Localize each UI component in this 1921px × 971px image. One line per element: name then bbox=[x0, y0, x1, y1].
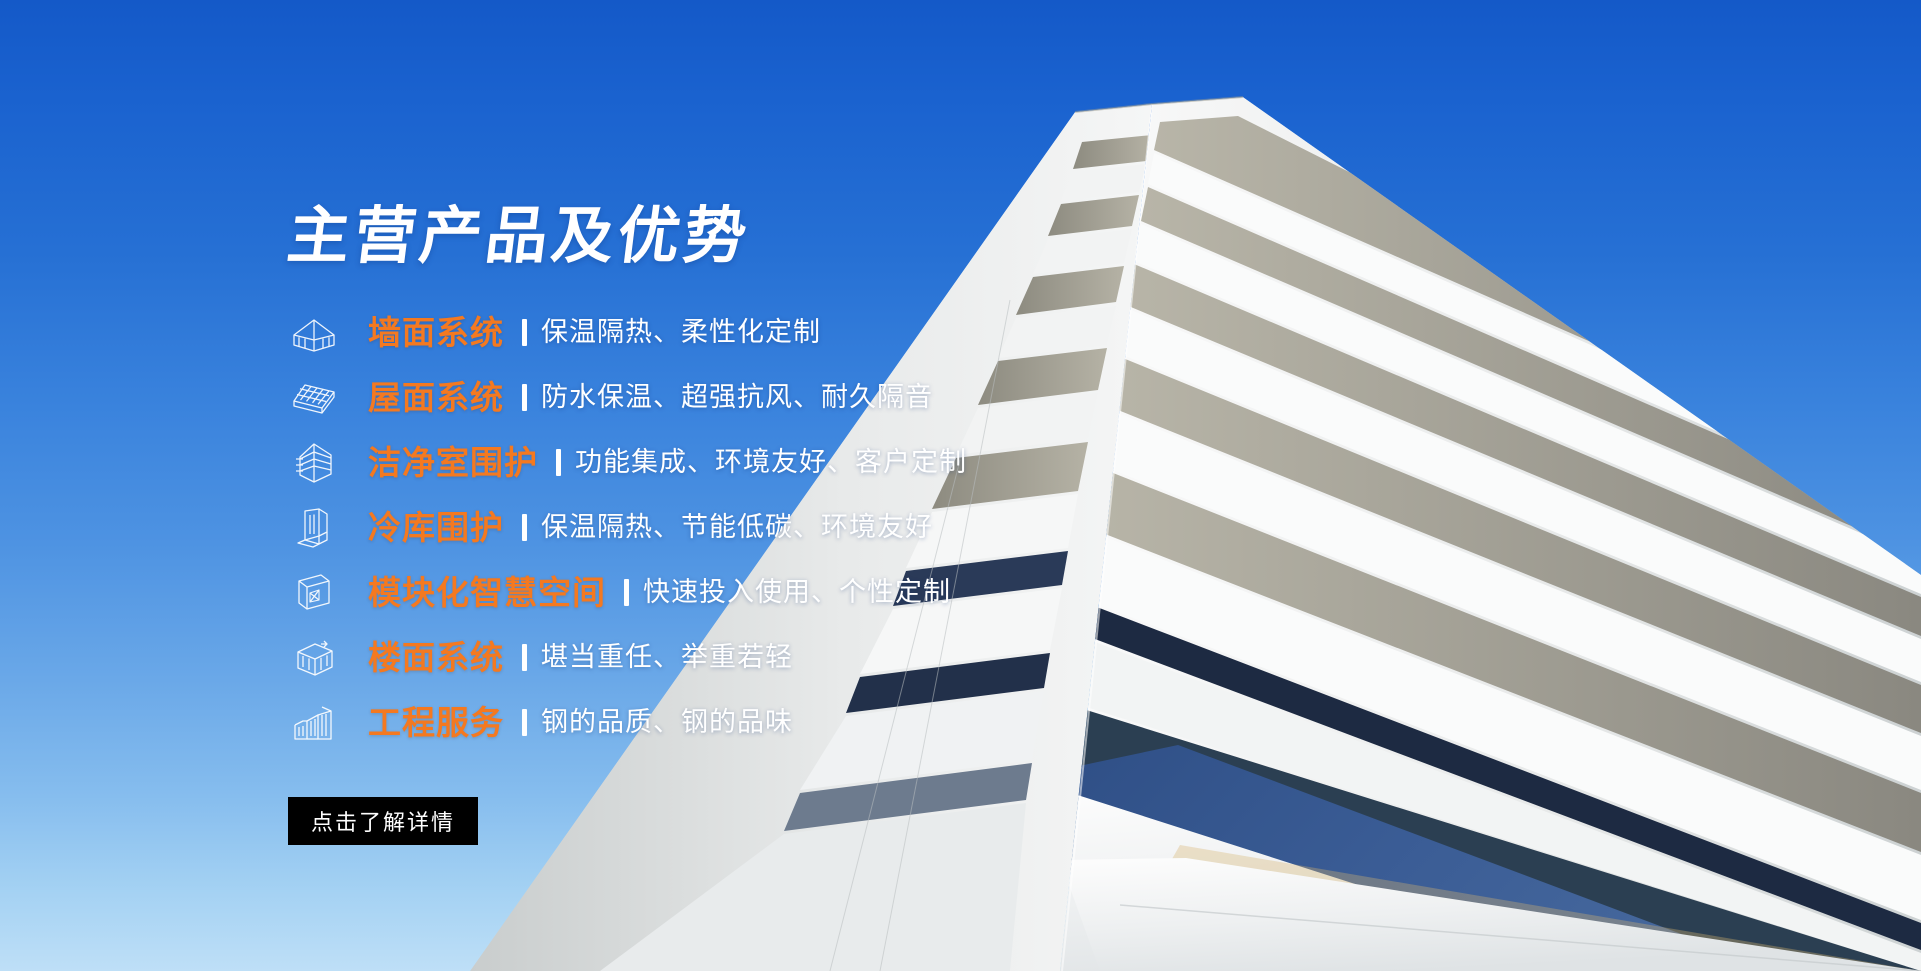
feature-title: 工程服务 bbox=[368, 706, 504, 739]
feature-desc: 保温隔热、节能低碳、环境友好 bbox=[541, 514, 933, 541]
feature-desc: 功能集成、环境友好、客户定制 bbox=[575, 449, 967, 476]
page-title: 主营产品及优势 bbox=[284, 205, 754, 267]
list-item[interactable]: 屋面系统 防水保温、超强抗风、耐久隔音 bbox=[288, 365, 1088, 430]
feature-title: 模块化智慧空间 bbox=[368, 576, 606, 609]
feature-desc: 堪当重任、举重若轻 bbox=[541, 644, 793, 671]
cold-storage-icon bbox=[288, 502, 340, 554]
feature-title: 楼面系统 bbox=[368, 641, 504, 674]
feature-separator bbox=[522, 709, 527, 736]
roof-system-icon bbox=[288, 372, 340, 424]
list-item[interactable]: 工程服务 钢的品质、钢的品味 bbox=[288, 690, 1088, 755]
feature-desc: 保温隔热、柔性化定制 bbox=[541, 319, 821, 346]
list-item[interactable]: 冷库围护 保温隔热、节能低碳、环境友好 bbox=[288, 495, 1088, 560]
feature-desc: 钢的品质、钢的品味 bbox=[541, 709, 793, 736]
feature-title: 洁净室围护 bbox=[368, 446, 538, 479]
feature-separator bbox=[624, 579, 629, 606]
list-item[interactable]: 墙面系统 保温隔热、柔性化定制 bbox=[288, 300, 1088, 365]
cleanroom-icon bbox=[288, 437, 340, 489]
banner-stage: 主营产品及优势 墙面系统 保温隔热、柔性化定制 bbox=[0, 0, 1921, 971]
engineering-service-icon bbox=[288, 697, 340, 749]
list-item[interactable]: 洁净室围护 功能集成、环境友好、客户定制 bbox=[288, 430, 1088, 495]
banner-content: 主营产品及优势 墙面系统 保温隔热、柔性化定制 bbox=[0, 0, 1100, 971]
feature-separator bbox=[522, 319, 527, 346]
floor-system-icon bbox=[288, 632, 340, 684]
feature-title: 屋面系统 bbox=[368, 381, 504, 414]
feature-separator bbox=[556, 449, 561, 476]
feature-title: 冷库围护 bbox=[368, 511, 504, 544]
building-right-face bbox=[1040, 97, 1921, 971]
list-item[interactable]: 楼面系统 堪当重任、举重若轻 bbox=[288, 625, 1088, 690]
feature-desc: 防水保温、超强抗风、耐久隔音 bbox=[541, 384, 933, 411]
modular-space-icon bbox=[288, 567, 340, 619]
wall-system-icon bbox=[288, 307, 340, 359]
feature-title: 墙面系统 bbox=[368, 316, 504, 349]
feature-separator bbox=[522, 514, 527, 541]
list-item[interactable]: 模块化智慧空间 快速投入使用、个性定制 bbox=[288, 560, 1088, 625]
feature-separator bbox=[522, 384, 527, 411]
feature-separator bbox=[522, 644, 527, 671]
learn-more-button[interactable]: 点击了解详情 bbox=[288, 797, 478, 845]
feature-desc: 快速投入使用、个性定制 bbox=[643, 579, 951, 606]
feature-list: 墙面系统 保温隔热、柔性化定制 屋面系统 防水保温、超强抗风、 bbox=[288, 300, 1088, 755]
